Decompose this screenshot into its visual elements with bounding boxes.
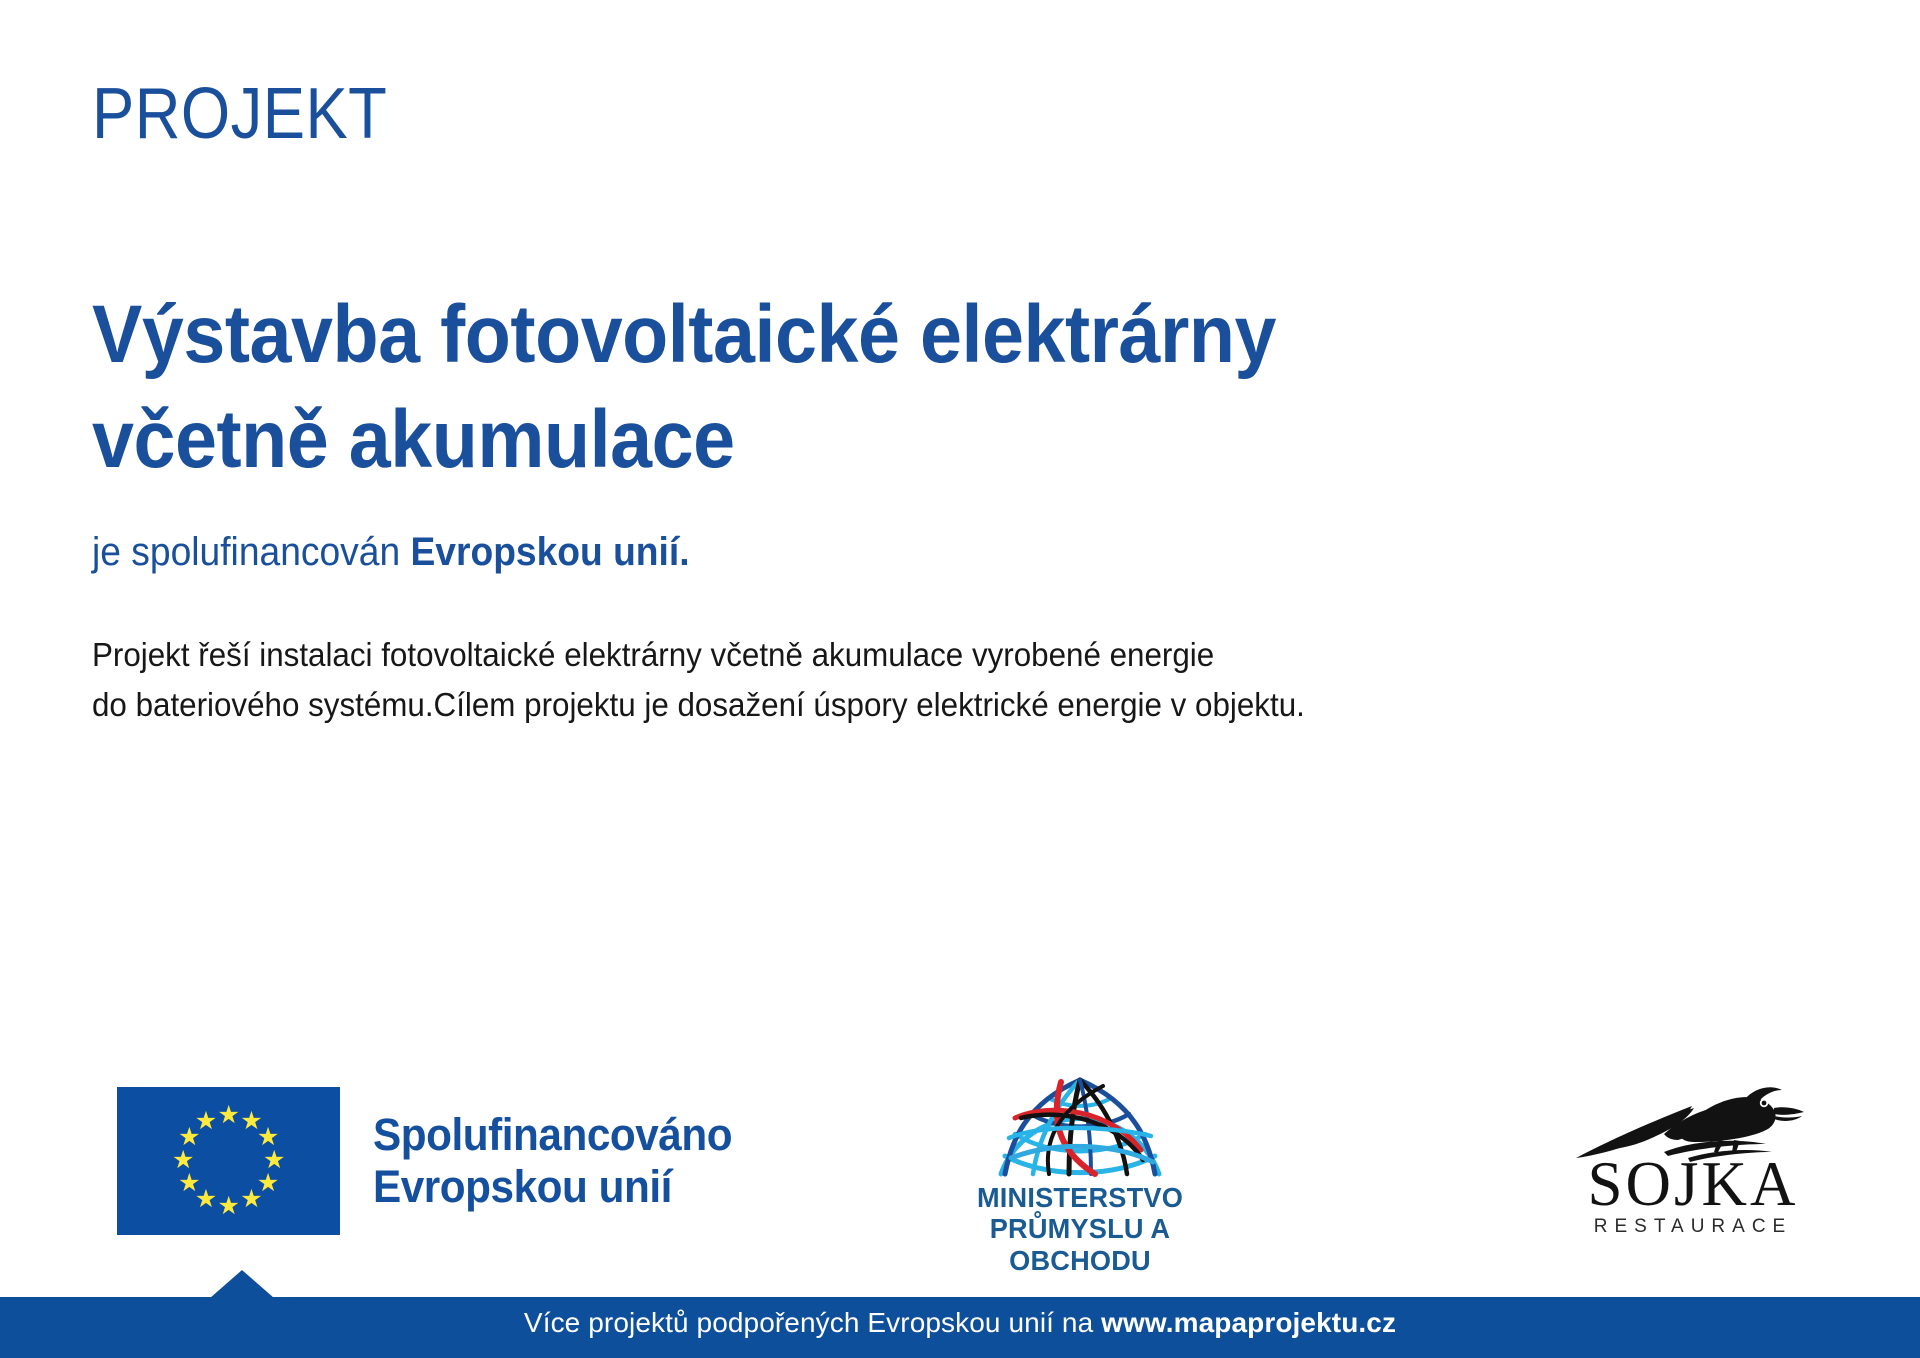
ministry-logo-line-1: MINISTERSTVO (920, 1182, 1240, 1213)
eu-star-icon: ★ (172, 1149, 194, 1171)
eu-cofunding-text: Spolufinancováno Evropskou unií (373, 1109, 732, 1213)
eu-cofunding-logo: ★★★★★★★★★★★★ Spolufinancováno Evropskou … (117, 1087, 755, 1235)
eu-star-icon: ★ (257, 1126, 279, 1148)
eu-flag-icon: ★★★★★★★★★★★★ (117, 1087, 340, 1235)
funding-statement: je spolufinancován Evropskou unií. (92, 528, 690, 576)
poster-canvas: PROJEKT Výstavba fotovoltaické elektrárn… (0, 0, 1920, 1358)
eu-star-icon: ★ (263, 1149, 285, 1171)
footer-text: Více projektů podpořených Evropskou unií… (0, 1307, 1920, 1339)
eu-cofunding-line-2: Evropskou unií (373, 1161, 732, 1213)
eu-star-icon: ★ (218, 1195, 240, 1217)
ministry-logo: MINISTERSTVO PRŮMYSLU A OBCHODU (915, 1074, 1245, 1276)
eu-star-icon: ★ (195, 1110, 217, 1132)
ministry-logo-text: MINISTERSTVO PRŮMYSLU A OBCHODU (920, 1182, 1240, 1276)
project-description-line-2: do bateriového systému.Cílem projektu je… (92, 680, 1305, 730)
funding-statement-normal: je spolufinancován (92, 530, 410, 574)
sojka-logo: SOJKA RESTAURACE (1548, 1078, 1838, 1238)
sojka-subtitle: RESTAURACE (1548, 1216, 1838, 1238)
project-description-line-1: Projekt řeší instalaci fotovoltaické ele… (92, 630, 1305, 680)
footer-link[interactable]: www.mapaprojektu.cz (1101, 1307, 1396, 1338)
ministry-logo-line-2: PRŮMYSLU A OBCHODU (920, 1213, 1240, 1276)
page-title-line-2: včetně akumulace (92, 388, 1674, 493)
page-kicker: PROJEKT (92, 78, 387, 150)
footer-text-normal: Více projektů podpořených Evropskou unií… (524, 1307, 1101, 1338)
ministry-globe-icon (991, 1074, 1169, 1180)
eu-cofunding-line-1: Spolufinancováno (373, 1109, 732, 1161)
footer-notch-triangle (210, 1270, 274, 1298)
page-title: Výstavba fotovoltaické elektrárny včetně… (92, 283, 1674, 493)
page-title-line-1: Výstavba fotovoltaické elektrárny (92, 289, 1276, 380)
sojka-wordmark: SOJKA (1548, 1156, 1838, 1214)
eu-star-icon: ★ (240, 1188, 262, 1210)
funding-statement-emphasis: Evropskou unií. (410, 530, 689, 574)
logo-strip: ★★★★★★★★★★★★ Spolufinancováno Evropskou … (0, 1060, 1920, 1260)
eu-star-icon: ★ (178, 1172, 200, 1194)
eu-star-icon: ★ (218, 1104, 240, 1126)
project-description: Projekt řeší instalaci fotovoltaické ele… (92, 630, 1305, 730)
